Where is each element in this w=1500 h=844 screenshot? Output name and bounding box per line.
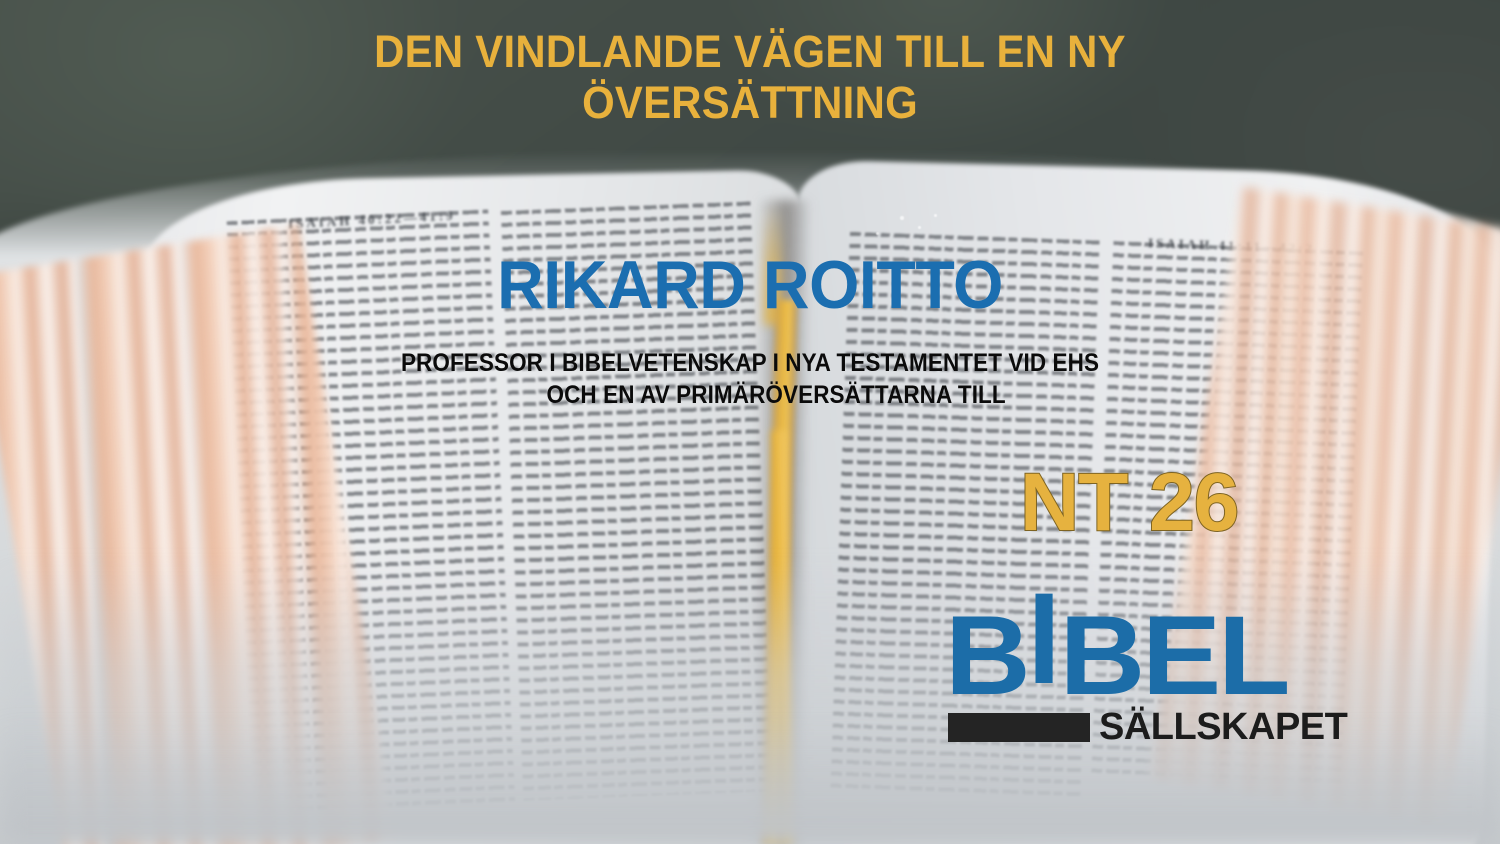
project-label-nt26: NT 26 xyxy=(1020,462,1238,544)
slide-text-overlay: DEN VINDLANDE VÄGEN TILL EN NY ÖVERSÄTTN… xyxy=(0,0,1500,844)
logo-wordmark: BIBEL xyxy=(945,600,1287,712)
slide-title-line-2: ÖVERSÄTTNING xyxy=(53,77,1448,128)
logo-bottom-row: SÄLLSKAPET xyxy=(948,708,1347,746)
slide-title-line-1: DEN VINDLANDE VÄGEN TILL EN NY xyxy=(53,26,1448,77)
slide-title: DEN VINDLANDE VÄGEN TILL EN NY ÖVERSÄTTN… xyxy=(53,26,1448,129)
logo-word-part-1: B xyxy=(945,593,1028,718)
speaker-role: PROFESSOR I BIBELVETENSKAP I NYA TESTAME… xyxy=(75,347,1425,411)
speaker-role-line-2: OCH EN AV PRIMÄRÖVERSÄTTARNA TILL xyxy=(75,379,1425,411)
speaker-role-line-1: PROFESSOR I BIBELVETENSKAP I NYA TESTAME… xyxy=(75,347,1425,379)
bibelsallskapet-logo: BIBEL SÄLLSKAPET xyxy=(945,600,1365,755)
logo-tall-i: I xyxy=(1028,574,1060,704)
logo-subtitle: SÄLLSKAPET xyxy=(1099,708,1347,746)
speaker-name: RIKARD ROITTO xyxy=(38,251,1463,319)
logo-bar xyxy=(948,713,1090,742)
presentation-slide: ISAIAH 40:22—41:9 ISAIAH 41:11—42:2 DEN … xyxy=(0,0,1500,844)
logo-word-part-2: BEL xyxy=(1059,593,1287,718)
